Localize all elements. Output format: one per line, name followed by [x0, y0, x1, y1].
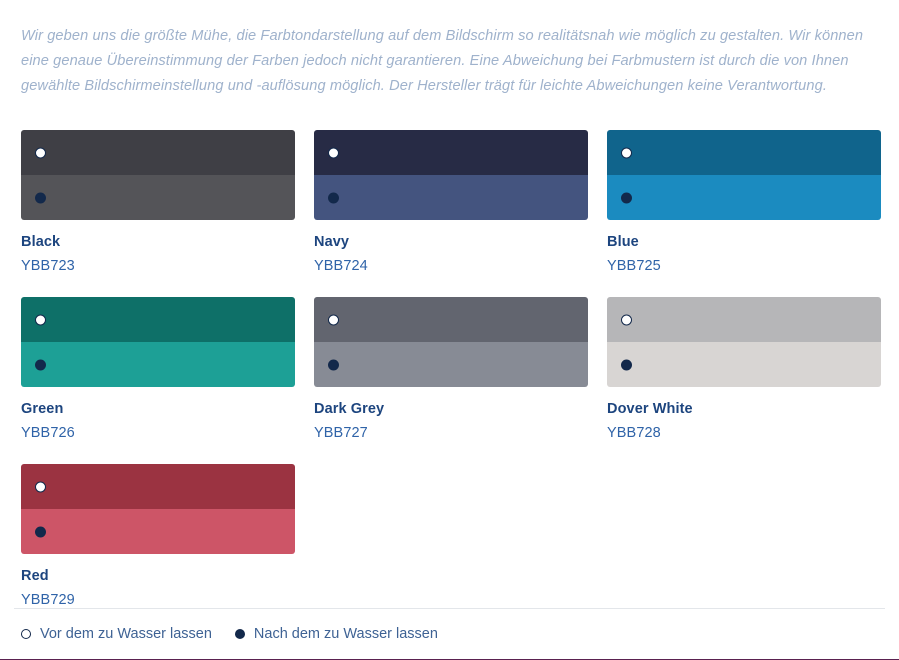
swatch-half-before-water	[21, 130, 295, 175]
filled-circle-marker-icon	[35, 359, 46, 370]
swatch-code: YBB724	[314, 257, 588, 275]
swatch-name: Dark Grey	[314, 400, 588, 418]
hollow-circle-marker-icon	[35, 314, 46, 325]
legend-divider	[14, 608, 885, 609]
legend-label-after: Nach dem zu Wasser lassen	[254, 624, 438, 644]
filled-circle-marker-icon	[35, 192, 46, 203]
swatch-half-before-water	[314, 297, 588, 342]
swatch-legend: Vor dem zu Wasser lassen Nach dem zu Was…	[21, 624, 438, 644]
filled-circle-marker-icon	[235, 629, 245, 639]
color-swatch-card[interactable]: NavyYBB724	[314, 130, 588, 275]
swatch-half-before-water	[21, 464, 295, 509]
swatch-half-before-water	[607, 130, 881, 175]
color-swatch-card[interactable]: Dark GreyYBB727	[314, 297, 588, 442]
hollow-circle-marker-icon	[35, 481, 46, 492]
color-swatch-card[interactable]: BlackYBB723	[21, 130, 295, 275]
hollow-circle-marker-icon	[328, 147, 339, 158]
swatch-half-after-water	[314, 342, 588, 387]
hollow-circle-marker-icon	[621, 147, 632, 158]
color-swatch-card[interactable]: Dover WhiteYBB728	[607, 297, 881, 442]
color-swatch-card[interactable]: GreenYBB726	[21, 297, 295, 442]
color-swatch-chip[interactable]	[314, 297, 588, 387]
swatch-name: Blue	[607, 233, 881, 251]
swatch-code: YBB728	[607, 424, 881, 442]
hollow-circle-marker-icon	[621, 314, 632, 325]
filled-circle-marker-icon	[328, 359, 339, 370]
filled-circle-marker-icon	[328, 192, 339, 203]
swatch-code: YBB726	[21, 424, 295, 442]
color-swatch-card[interactable]: BlueYBB725	[607, 130, 881, 275]
swatch-name: Green	[21, 400, 295, 418]
legend-item-after: Nach dem zu Wasser lassen	[235, 624, 438, 644]
swatch-half-after-water	[21, 342, 295, 387]
hollow-circle-marker-icon	[35, 147, 46, 158]
swatch-code: YBB729	[21, 591, 295, 609]
filled-circle-marker-icon	[621, 192, 632, 203]
color-swatch-chip[interactable]	[21, 464, 295, 554]
swatch-half-after-water	[21, 175, 295, 220]
color-swatch-chip[interactable]	[607, 130, 881, 220]
swatch-half-after-water	[607, 175, 881, 220]
swatch-code: YBB723	[21, 257, 295, 275]
legend-label-before: Vor dem zu Wasser lassen	[40, 624, 212, 644]
color-swatch-chip[interactable]	[314, 130, 588, 220]
color-swatch-grid: BlackYBB723NavyYBB724BlueYBB725GreenYBB7…	[21, 130, 881, 609]
swatch-name: Black	[21, 233, 295, 251]
swatch-half-after-water	[314, 175, 588, 220]
swatch-half-before-water	[21, 297, 295, 342]
swatch-half-after-water	[607, 342, 881, 387]
filled-circle-marker-icon	[621, 359, 632, 370]
legend-item-before: Vor dem zu Wasser lassen	[21, 624, 212, 644]
color-swatch-card[interactable]: RedYBB729	[21, 464, 295, 609]
filled-circle-marker-icon	[35, 526, 46, 537]
hollow-circle-marker-icon	[21, 629, 31, 639]
swatch-name: Navy	[314, 233, 588, 251]
hollow-circle-marker-icon	[328, 314, 339, 325]
color-accuracy-disclaimer: Wir geben uns die größte Mühe, die Farbt…	[21, 24, 877, 99]
swatch-half-after-water	[21, 509, 295, 554]
color-swatch-chip[interactable]	[607, 297, 881, 387]
swatch-name: Red	[21, 567, 295, 585]
color-swatch-chip[interactable]	[21, 297, 295, 387]
swatch-half-before-water	[607, 297, 881, 342]
color-swatch-chip[interactable]	[21, 130, 295, 220]
color-swatch-page: Wir geben uns die größte Mühe, die Farbt…	[0, 0, 899, 660]
swatch-name: Dover White	[607, 400, 881, 418]
swatch-half-before-water	[314, 130, 588, 175]
swatch-code: YBB725	[607, 257, 881, 275]
swatch-code: YBB727	[314, 424, 588, 442]
